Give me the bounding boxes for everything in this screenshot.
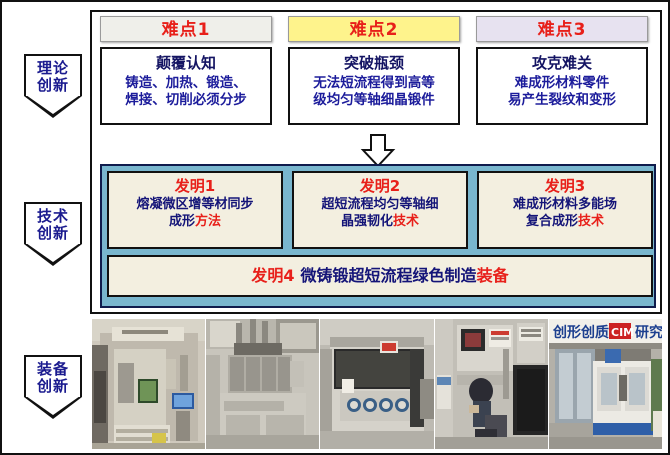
difficulty-desc-2-line1: 无法短流程得到高等 [293, 75, 455, 92]
rail-tech-line1: 技术 [26, 208, 80, 225]
photo-1: 大型微铸锻铣设备车间 [92, 319, 206, 449]
photo-4: 操作人员控制台工作站 [435, 319, 549, 449]
invention-desc-2-highlight: 技术 [393, 214, 419, 229]
photo-2-alt: 超短流程成形装备机组 [206, 437, 319, 447]
invention-desc-3-line2: 复合成形技术 [481, 213, 649, 230]
difficulty-card-2: 突破瓶颈 无法短流程得到高等 级均匀等轴细晶锻件 [288, 47, 460, 125]
difficulty-tab-2[interactable]: 难点2 [288, 16, 460, 42]
photo-5-alt: 创形创质研究中心装备 [549, 437, 662, 447]
difficulty-tab-3[interactable]: 难点3 [476, 16, 648, 42]
photo-5: 创形创质 CIM 研究 [549, 319, 662, 449]
photo-1-alt: 大型微铸锻铣设备车间 [92, 437, 205, 447]
pennant-tip-icon [24, 96, 82, 118]
invention-card-2: 发明2 超短流程均匀等轴细 晶强韧化技术 [292, 171, 468, 249]
difficulty-card-3: 攻克难关 难成形材料零件 易产生裂纹和变形 [476, 47, 648, 125]
rail-equip-line1: 装备 [26, 361, 80, 378]
photo-3: 不锈钢防护罩成形装备 [320, 319, 434, 449]
pennant-tip-icon [24, 397, 82, 419]
rail-equip-line2: 创新 [26, 378, 80, 395]
svg-text:研究: 研究 [635, 324, 662, 341]
invention-row: 发明1 熔凝微区增等材同步 成形方法 发明2 超短流程均匀等轴细 晶强韧化技术 … [107, 171, 649, 249]
invention-card-3: 发明3 难成形材料多能场 复合成形技术 [477, 171, 653, 249]
invention-desc-1-line2: 成形方法 [111, 213, 279, 230]
difficulty-column-3: 难点3 攻克难关 难成形材料零件 易产生裂纹和变形 [476, 16, 648, 125]
invention-desc-1: 熔凝微区增等材同步 成形方法 [109, 196, 281, 230]
difficulty-desc-3-line2: 易产生裂纹和变形 [481, 92, 643, 109]
invention-desc-4: 微铸锻超短流程绿色制造装备 [301, 266, 509, 285]
difficulty-desc-1-line2: 焊接、切削必须分步 [105, 92, 267, 109]
difficulty-desc-1-line1: 铸造、加热、锻造、 [105, 75, 267, 92]
tech-innovation-panel: 发明1 熔凝微区增等材同步 成形方法 发明2 超短流程均匀等轴细 晶强韧化技术 … [100, 164, 656, 308]
rail-item-tech[interactable]: 技术 创新 [24, 202, 82, 266]
invention-card-1: 发明1 熔凝微区增等材同步 成形方法 [107, 171, 283, 249]
rail-tech-body: 技术 创新 [24, 202, 82, 244]
invention-card-4: 发明4微铸锻超短流程绿色制造装备 [107, 255, 653, 297]
slide-frame: 理论 创新 技术 创新 装备 创新 难点1 [0, 0, 670, 455]
rail-item-theory[interactable]: 理论 创新 [24, 54, 82, 118]
rail-tech-line2: 创新 [26, 225, 80, 242]
svg-text:创形创质: 创形创质 [552, 324, 609, 341]
difficulty-title-1: 颠覆认知 [105, 54, 267, 73]
invention-title-3: 发明3 [479, 177, 651, 196]
left-rail: 理论 创新 技术 创新 装备 创新 [8, 6, 90, 453]
equipment-photo-strip: 大型微铸锻铣设备车间 [92, 319, 662, 449]
difficulty-column-1: 难点1 颠覆认知 铸造、加热、锻造、 焊接、切削必须分步 [100, 16, 272, 125]
invention-desc-3: 难成形材料多能场 复合成形技术 [479, 196, 651, 230]
difficulty-desc-3: 难成形材料零件 易产生裂纹和变形 [481, 75, 643, 109]
down-arrow-icon [360, 134, 396, 168]
theory-section: 难点1 颠覆认知 铸造、加热、锻造、 焊接、切削必须分步 难点2 突破瓶颈 无法… [92, 12, 664, 160]
photo-4-alt: 操作人员控制台工作站 [435, 437, 548, 447]
rail-equip-body: 装备 创新 [24, 355, 82, 397]
invention-desc-1-plain: 成形 [169, 214, 195, 229]
photo-2: 超短流程成形装备机组 [206, 319, 320, 449]
pennant-tip-icon [24, 244, 82, 266]
invention-desc-4-highlight: 装备 [477, 266, 509, 285]
difficulty-tab-1[interactable]: 难点1 [100, 16, 272, 42]
invention-desc-2-plain: 晶强韧化 [341, 214, 393, 229]
invention-desc-2-line2: 晶强韧化技术 [296, 213, 464, 230]
difficulty-desc-2: 无法短流程得到高等 级均匀等轴细晶锻件 [293, 75, 455, 109]
invention-desc-3-plain: 复合成形 [526, 214, 578, 229]
invention-desc-2-line1: 超短流程均匀等轴细 [296, 196, 464, 213]
rail-item-equipment[interactable]: 装备 创新 [24, 355, 82, 419]
difficulty-card-1: 颠覆认知 铸造、加热、锻造、 焊接、切削必须分步 [100, 47, 272, 125]
rail-theory-body: 理论 创新 [24, 54, 82, 96]
invention-desc-3-line1: 难成形材料多能场 [481, 196, 649, 213]
invention-title-4: 发明4 [251, 266, 294, 285]
difficulty-title-3: 攻克难关 [481, 54, 643, 73]
invention-title-1: 发明1 [109, 177, 281, 196]
difficulty-desc-1: 铸造、加热、锻造、 焊接、切削必须分步 [105, 75, 267, 109]
invention-title-2: 发明2 [294, 177, 466, 196]
photo-3-alt: 不锈钢防护罩成形装备 [320, 437, 433, 447]
main-content-box: 难点1 颠覆认知 铸造、加热、锻造、 焊接、切削必须分步 难点2 突破瓶颈 无法… [90, 10, 662, 314]
difficulty-title-2: 突破瓶颈 [293, 54, 455, 73]
rail-theory-line1: 理论 [26, 60, 80, 77]
invention-desc-1-line1: 熔凝微区增等材同步 [111, 196, 279, 213]
difficulty-column-2: 难点2 突破瓶颈 无法短流程得到高等 级均匀等轴细晶锻件 [288, 16, 460, 125]
svg-text:CIM: CIM [611, 326, 634, 339]
invention-desc-4-plain: 微铸锻超短流程绿色制造 [301, 266, 477, 285]
invention-desc-2: 超短流程均匀等轴细 晶强韧化技术 [294, 196, 466, 230]
difficulty-desc-3-line1: 难成形材料零件 [481, 75, 643, 92]
invention-desc-3-highlight: 技术 [578, 214, 604, 229]
invention-desc-1-highlight: 方法 [195, 214, 221, 229]
rail-theory-line2: 创新 [26, 77, 80, 94]
difficulty-desc-2-line2: 级均匀等轴细晶锻件 [293, 92, 455, 109]
